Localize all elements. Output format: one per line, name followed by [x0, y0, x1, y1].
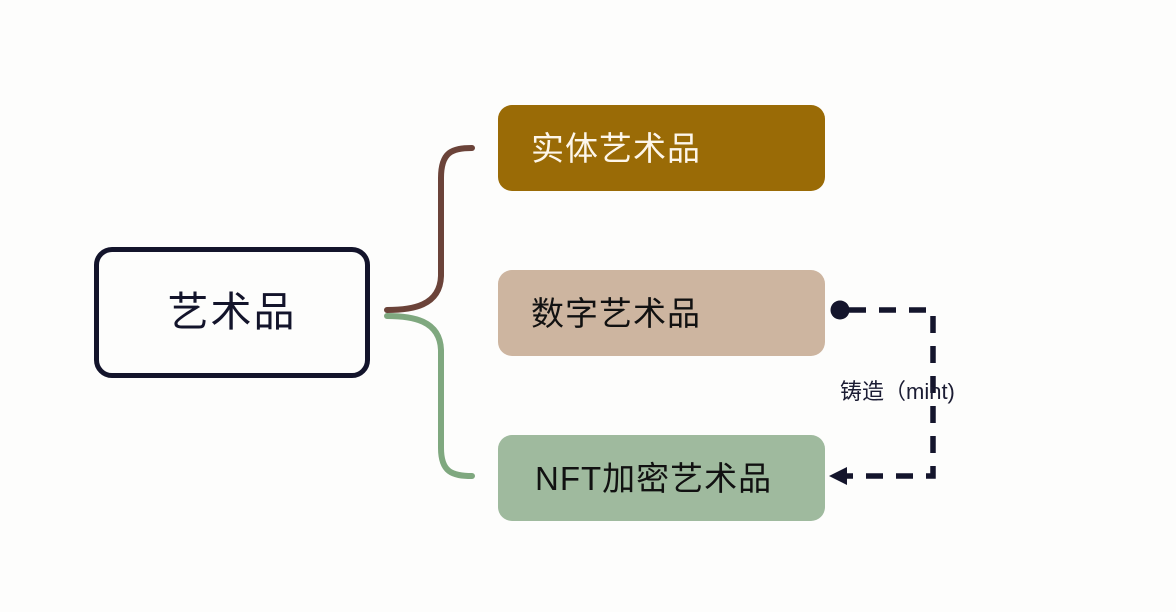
- mint-relation-label: 铸造（mint): [840, 374, 955, 406]
- connector-root-to-physical: [387, 148, 472, 310]
- diagram-canvas: 艺术品 实体艺术品 数字艺术品 NFT加密艺术品 铸造（mint): [0, 0, 1176, 612]
- node-digital-artwork[interactable]: 数字艺术品: [498, 270, 825, 356]
- connector-root-to-nft: [387, 316, 472, 476]
- node-nft-artwork-label: NFT加密艺术品: [531, 462, 772, 495]
- node-physical-artwork-label: 实体艺术品: [531, 132, 701, 165]
- mint-relation-start-dot: [831, 301, 850, 320]
- mint-relation-arrowhead: [829, 467, 847, 485]
- node-nft-artwork[interactable]: NFT加密艺术品: [498, 435, 825, 521]
- node-physical-artwork[interactable]: 实体艺术品: [498, 105, 825, 191]
- node-root-artwork-label: 艺术品: [168, 292, 297, 333]
- node-root-artwork[interactable]: 艺术品: [94, 247, 370, 378]
- node-digital-artwork-label: 数字艺术品: [531, 297, 701, 330]
